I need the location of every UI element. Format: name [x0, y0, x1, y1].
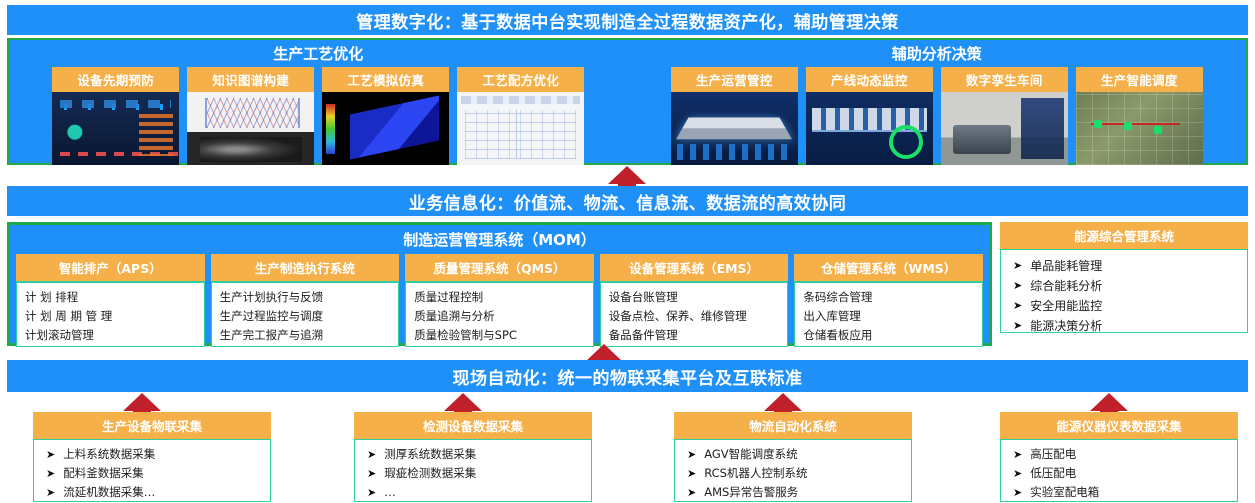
card-body: ➤ AGV智能调度系统 ➤ RCS机器人控制系统 ➤ AMS异常告警服务 [674, 439, 912, 502]
list-item: 计划滚动管理 [25, 326, 198, 345]
column-header: 质量管理系统（QMS） [405, 254, 594, 283]
list-item: ➤ 瑕疵检测数据采集 [367, 464, 583, 483]
intelligent-scheduling-thumbnail-image [1076, 92, 1203, 165]
card-body: ➤ 测厚系统数据采集 ➤ 瑕疵检测数据采集 ➤ … [354, 439, 592, 502]
list-item-label: 上料系统数据采集 [63, 445, 155, 464]
recipe-optimization-thumbnail-image [457, 92, 584, 165]
list-item: ➤ 配料釜数据采集 [46, 464, 262, 483]
list-item: ➤ 能源决策分析 [1013, 316, 1239, 336]
card-body: ➤ 上料系统数据采集 ➤ 配料釜数据采集 ➤ 流延机数据采集… [33, 439, 271, 502]
thumb-caption: 产线动态监控 [806, 67, 933, 92]
list-item: ➤ 流延机数据采集… [46, 483, 262, 502]
process-simulation-thumbnail-image [322, 92, 449, 165]
list-item: ➤ 测厚系统数据采集 [367, 445, 583, 464]
equipment-prevention-thumbnail-image [52, 92, 179, 165]
mom-column-wms[interactable]: 仓储管理系统（WMS） 条码综合管理 出入库管理 仓储看板应用 [794, 254, 983, 347]
management-layer-banner: 管理数字化：基于数据中台实现制造全过程数据资产化，辅助管理决策 [7, 5, 1248, 35]
column-body: 计 划 排程 计 划 周 期 管 理 计划滚动管理 [16, 283, 205, 347]
bullet-arrow-icon: ➤ [1013, 464, 1022, 483]
bullet-arrow-icon: ➤ [46, 445, 55, 464]
list-item-label: 高压配电 [1030, 445, 1076, 464]
list-item: 仓储看板应用 [803, 326, 976, 345]
bullet-arrow-icon: ➤ [367, 483, 376, 502]
thumb-card[interactable]: 生产运营管控 [671, 67, 798, 165]
thumbnail-row: 设备先期预防 知识图谱构建 工艺模拟仿真 工艺配方优化 [52, 67, 584, 165]
list-item-label: 安全用能监控 [1030, 296, 1102, 316]
column-header: 生产制造执行系统 [211, 254, 400, 283]
bullet-arrow-icon: ➤ [1013, 445, 1022, 464]
thumb-card[interactable]: 产线动态监控 [806, 67, 933, 165]
list-item: 生产完工报产与追溯 [220, 326, 393, 345]
list-item-label: 单品能耗管理 [1030, 256, 1102, 276]
decision-analysis-group: 辅助分析决策 生产运营管控 产线动态监控 数字孪生车间 生产智能调度 [628, 40, 1247, 163]
list-item-label: 瑕疵检测数据采集 [384, 464, 476, 483]
list-item-label: AGV智能调度系统 [704, 445, 797, 464]
mom-column-mes[interactable]: 生产制造执行系统 生产计划执行与反馈 生产过程监控与调度 生产完工报产与追溯 [211, 254, 400, 347]
thumb-card[interactable]: 数字孪生车间 [941, 67, 1068, 165]
list-item-label: 综合能耗分析 [1030, 276, 1102, 296]
acquisition-card-energy[interactable]: 能源仪器仪表数据采集 ➤ 高压配电 ➤ 低压配电 ➤ 实验室配电箱 [1000, 412, 1238, 502]
bullet-arrow-icon: ➤ [687, 483, 696, 502]
bullet-arrow-icon: ➤ [367, 464, 376, 483]
list-item: ➤ AGV智能调度系统 [687, 445, 903, 464]
mom-columns: 智能排产（APS） 计 划 排程 计 划 周 期 管 理 计划滚动管理 生产制造… [10, 250, 989, 347]
column-header: 设备管理系统（EMS） [600, 254, 789, 283]
list-item-label: 能源决策分析 [1030, 316, 1102, 336]
thumb-card[interactable]: 设备先期预防 [52, 67, 179, 165]
group-title: 辅助分析决策 [892, 43, 982, 64]
digital-twin-thumbnail-image [941, 92, 1068, 165]
process-optimization-group: 生产工艺优化 设备先期预防 知识图谱构建 工艺模拟仿真 工艺配方优化 [9, 40, 628, 163]
thumb-caption: 数字孪生车间 [941, 67, 1068, 92]
thumb-card[interactable]: 工艺配方优化 [457, 67, 584, 165]
bullet-arrow-icon: ➤ [687, 445, 696, 464]
list-item: 条码综合管理 [803, 288, 976, 307]
list-item: ➤ RCS机器人控制系统 [687, 464, 903, 483]
list-item: 设备点检、保养、维修管理 [609, 307, 782, 326]
bullet-arrow-icon: ➤ [367, 445, 376, 464]
thumb-card[interactable]: 生产智能调度 [1076, 67, 1203, 165]
column-body: 设备台账管理 设备点检、保养、维修管理 备品备件管理 [600, 283, 789, 347]
energy-management-box[interactable]: 能源综合管理系统 ➤ 单品能耗管理 ➤ 综合能耗分析 ➤ 安全用能监控 ➤ 能源… [1000, 222, 1248, 338]
list-item-label: 配料釜数据采集 [63, 464, 144, 483]
list-item: 质量追溯与分析 [414, 307, 587, 326]
card-header: 生产设备物联采集 [33, 412, 271, 439]
card-header: 物流自动化系统 [674, 412, 912, 439]
list-item: 设备台账管理 [609, 288, 782, 307]
list-item-label: 低压配电 [1030, 464, 1076, 483]
bullet-arrow-icon: ➤ [687, 464, 696, 483]
list-item: ➤ 实验室配电箱 [1013, 483, 1229, 502]
list-item: 备品备件管理 [609, 326, 782, 345]
thumb-caption: 设备先期预防 [52, 67, 179, 92]
card-header: 能源仪器仪表数据采集 [1000, 412, 1238, 439]
list-item: 计 划 排程 [25, 288, 198, 307]
list-item: 计 划 周 期 管 理 [25, 307, 198, 326]
acquisition-card-logistics[interactable]: 物流自动化系统 ➤ AGV智能调度系统 ➤ RCS机器人控制系统 ➤ AMS异常… [674, 412, 912, 502]
list-item: ➤ 安全用能监控 [1013, 296, 1239, 316]
thumb-caption: 生产运营管控 [671, 67, 798, 92]
energy-header: 能源综合管理系统 [1000, 222, 1248, 249]
bullet-arrow-icon: ➤ [1013, 483, 1022, 502]
card-body: ➤ 高压配电 ➤ 低压配电 ➤ 实验室配电箱 [1000, 439, 1238, 502]
list-item: 出入库管理 [803, 307, 976, 326]
list-item: ➤ 低压配电 [1013, 464, 1229, 483]
mom-column-qms[interactable]: 质量管理系统（QMS） 质量过程控制 质量追溯与分析 质量检验管制与SPC [405, 254, 594, 347]
list-item: ➤ AMS异常告警服务 [687, 483, 903, 502]
bullet-arrow-icon: ➤ [46, 483, 55, 502]
list-item-label: … [384, 483, 396, 502]
mom-column-ems[interactable]: 设备管理系统（EMS） 设备台账管理 设备点检、保养、维修管理 备品备件管理 [600, 254, 789, 347]
column-body: 质量过程控制 质量追溯与分析 质量检验管制与SPC [405, 283, 594, 347]
list-item-label: 测厚系统数据采集 [384, 445, 476, 464]
list-item: ➤ 高压配电 [1013, 445, 1229, 464]
mom-column-aps[interactable]: 智能排产（APS） 计 划 排程 计 划 周 期 管 理 计划滚动管理 [16, 254, 205, 347]
column-header: 仓储管理系统（WMS） [794, 254, 983, 283]
management-layer-body: 生产工艺优化 设备先期预防 知识图谱构建 工艺模拟仿真 工艺配方优化 辅助分析决… [7, 38, 1248, 165]
column-body: 生产计划执行与反馈 生产过程监控与调度 生产完工报产与追溯 [211, 283, 400, 347]
field-layer-banner: 现场自动化：统一的物联采集平台及互联标准 [7, 360, 1248, 392]
energy-body: ➤ 单品能耗管理 ➤ 综合能耗分析 ➤ 安全用能监控 ➤ 能源决策分析 [1000, 249, 1248, 333]
list-item: 质量检验管制与SPC [414, 326, 587, 345]
business-layer-banner: 业务信息化：价值流、物流、信息流、数据流的高效协同 [7, 186, 1248, 216]
list-item: ➤ 综合能耗分析 [1013, 276, 1239, 296]
acquisition-card-inspection[interactable]: 检测设备数据采集 ➤ 测厚系统数据采集 ➤ 瑕疵检测数据采集 ➤ … [354, 412, 592, 502]
mom-title: 制造运营管理系统（MOM） [10, 225, 989, 250]
list-item-label: RCS机器人控制系统 [704, 464, 807, 483]
thumb-caption: 生产智能调度 [1076, 67, 1203, 92]
knowledge-graph-thumbnail-image [187, 92, 314, 165]
list-item: ➤ 单品能耗管理 [1013, 256, 1239, 276]
thumb-caption: 工艺模拟仿真 [322, 67, 449, 92]
list-item: 生产计划执行与反馈 [220, 288, 393, 307]
list-item: 质量过程控制 [414, 288, 587, 307]
column-header: 智能排产（APS） [16, 254, 205, 283]
line-monitoring-thumbnail-image [806, 92, 933, 165]
mom-system-box: 制造运营管理系统（MOM） 智能排产（APS） 计 划 排程 计 划 周 期 管… [7, 222, 992, 346]
thumb-caption: 工艺配方优化 [457, 67, 584, 92]
thumb-card[interactable]: 知识图谱构建 [187, 67, 314, 165]
column-body: 条码综合管理 出入库管理 仓储看板应用 [794, 283, 983, 347]
list-item: ➤ … [367, 483, 583, 502]
list-item-label: 实验室配电箱 [1030, 483, 1099, 502]
thumbnail-row: 生产运营管控 产线动态监控 数字孪生车间 生产智能调度 [671, 67, 1203, 165]
thumb-card[interactable]: 工艺模拟仿真 [322, 67, 449, 165]
list-item: ➤ 上料系统数据采集 [46, 445, 262, 464]
operations-control-thumbnail-image [671, 92, 798, 165]
bullet-arrow-icon: ➤ [1013, 296, 1022, 316]
thumb-caption: 知识图谱构建 [187, 67, 314, 92]
card-header: 检测设备数据采集 [354, 412, 592, 439]
bullet-arrow-icon: ➤ [1013, 256, 1022, 276]
acquisition-card-production[interactable]: 生产设备物联采集 ➤ 上料系统数据采集 ➤ 配料釜数据采集 ➤ 流延机数据采集… [33, 412, 271, 502]
list-item-label: 流延机数据采集… [63, 483, 155, 502]
bullet-arrow-icon: ➤ [46, 464, 55, 483]
bullet-arrow-icon: ➤ [1013, 276, 1022, 296]
bullet-arrow-icon: ➤ [1013, 316, 1022, 336]
list-item: 生产过程监控与调度 [220, 307, 393, 326]
list-item-label: AMS异常告警服务 [704, 483, 798, 502]
group-title: 生产工艺优化 [273, 43, 363, 64]
